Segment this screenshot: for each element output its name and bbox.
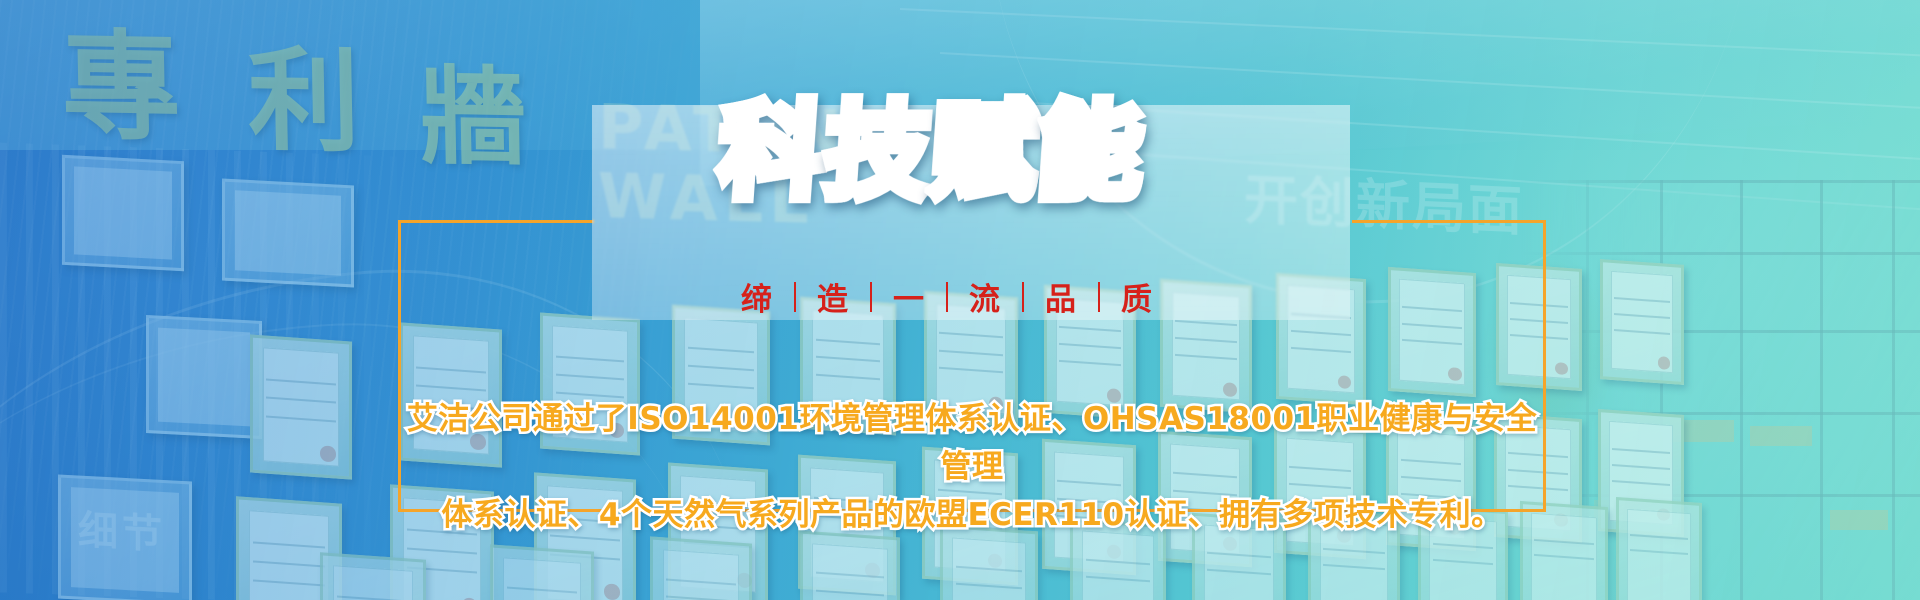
subtitle-char-2: 造 xyxy=(796,274,870,319)
description-line-1: 艾洁公司通过了ISO14001环境管理体系认证、OHSAS18001职业健康与安… xyxy=(398,395,1546,491)
subtitle-char-5: 品 xyxy=(1024,274,1098,319)
description-block: 艾洁公司通过了ISO14001环境管理体系认证、OHSAS18001职业健康与安… xyxy=(398,395,1546,539)
main-title: 科技赋能 xyxy=(716,96,1148,208)
subtitle-char-3: 一 xyxy=(872,274,946,319)
subtitle-row: 缔 造 一 流 品 质 xyxy=(720,274,1174,319)
subtitle-char-6: 质 xyxy=(1100,274,1174,319)
title-glyph-3: 赋 xyxy=(928,96,1042,208)
frame-top-left-segment xyxy=(398,220,594,223)
title-glyph-2: 技 xyxy=(822,96,936,208)
subtitle-char-4: 流 xyxy=(948,274,1022,319)
title-glyph-4: 能 xyxy=(1034,96,1148,208)
frame-top-right-segment xyxy=(1352,220,1546,223)
patent-wall-banner: 專 利 牆 PATENT WALL 开创新局面 细节 科技赋能 缔 造 一 流 … xyxy=(0,0,1920,600)
description-line-2: 体系认证、4个天然气系列产品的欧盟ECER110认证、拥有多项技术专利。 xyxy=(398,491,1546,539)
subtitle-char-1: 缔 xyxy=(720,274,794,319)
title-glyph-1: 科 xyxy=(716,96,830,208)
